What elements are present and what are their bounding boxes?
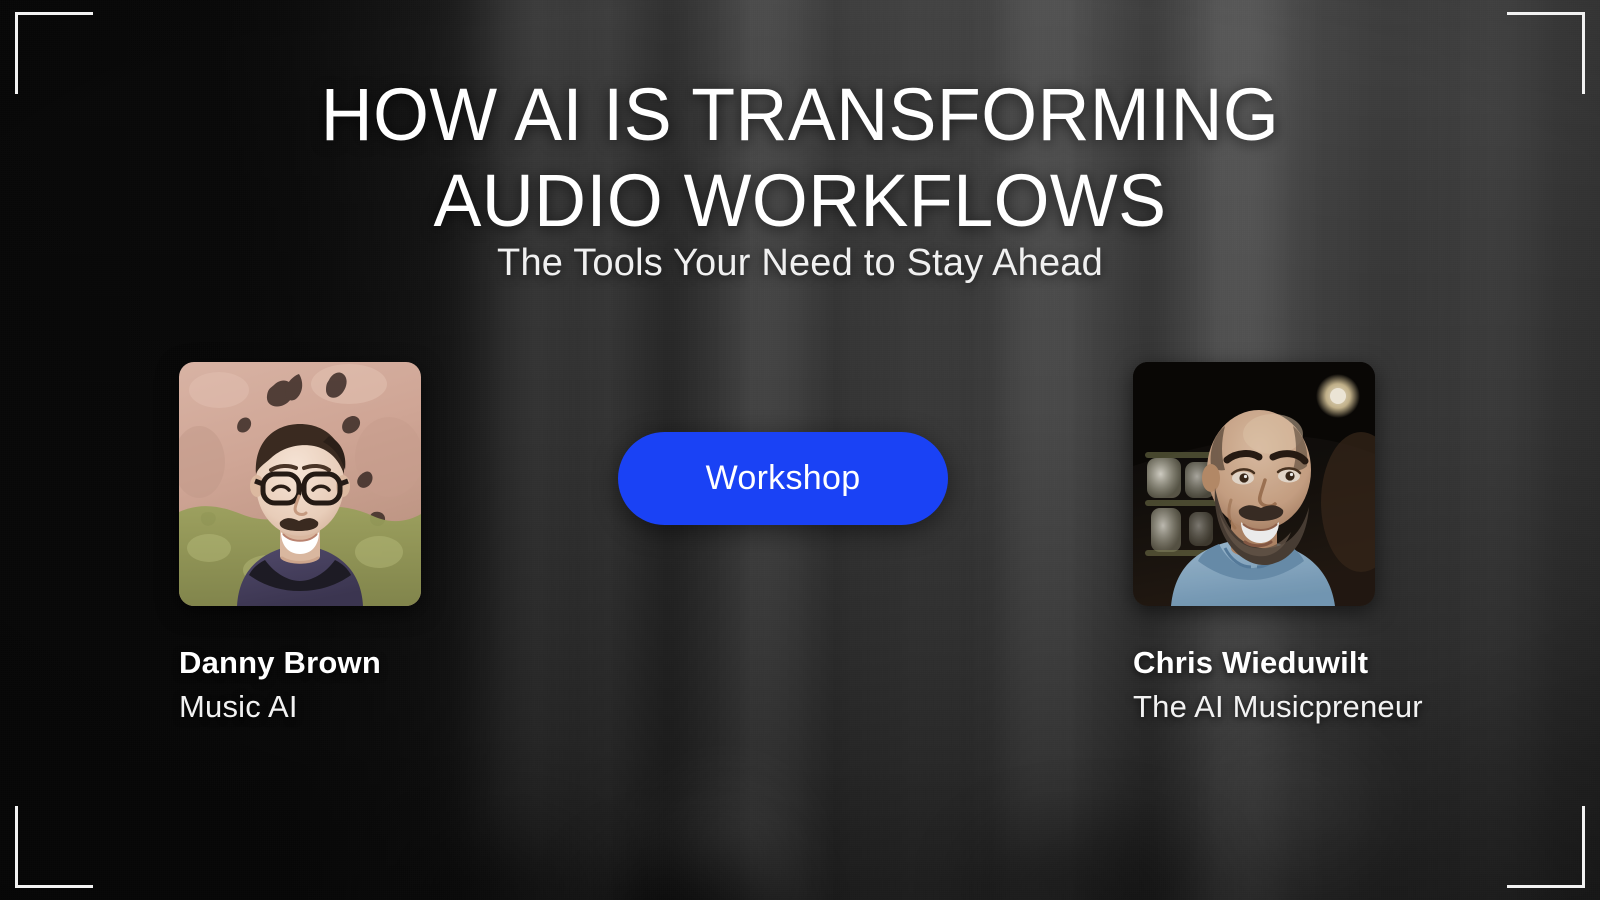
speaker-role: The AI Musicpreneur (1133, 689, 1423, 725)
speaker-role: Music AI (179, 689, 421, 725)
avatar (179, 362, 421, 606)
page-title-line-2: AUDIO WORKFLOWS (24, 164, 1576, 238)
workshop-button-label: Workshop (706, 459, 861, 498)
page-title-line-1: HOW AI IS TRANSFORMING (321, 73, 1279, 156)
avatar (1133, 362, 1375, 606)
promo-slide: HOW AI IS TRANSFORMING AUDIO WORKFLOWS T… (0, 0, 1600, 900)
speaker-name: Danny Brown (179, 645, 421, 681)
workshop-button[interactable]: Workshop (618, 432, 948, 525)
speaker-name: Chris Wieduwilt (1133, 645, 1423, 681)
page-subtitle: The Tools Your Need to Stay Ahead (0, 242, 1600, 285)
portrait-man-glasses-mustache-icon (179, 362, 421, 606)
portrait-man-bald-beard-icon (1133, 362, 1375, 606)
speaker-card-chris-wieduwilt: Chris Wieduwilt The AI Musicpreneur (1133, 362, 1423, 725)
page-title: HOW AI IS TRANSFORMING AUDIO WORKFLOWS (24, 78, 1576, 238)
speaker-card-danny-brown: Danny Brown Music AI (179, 362, 421, 725)
